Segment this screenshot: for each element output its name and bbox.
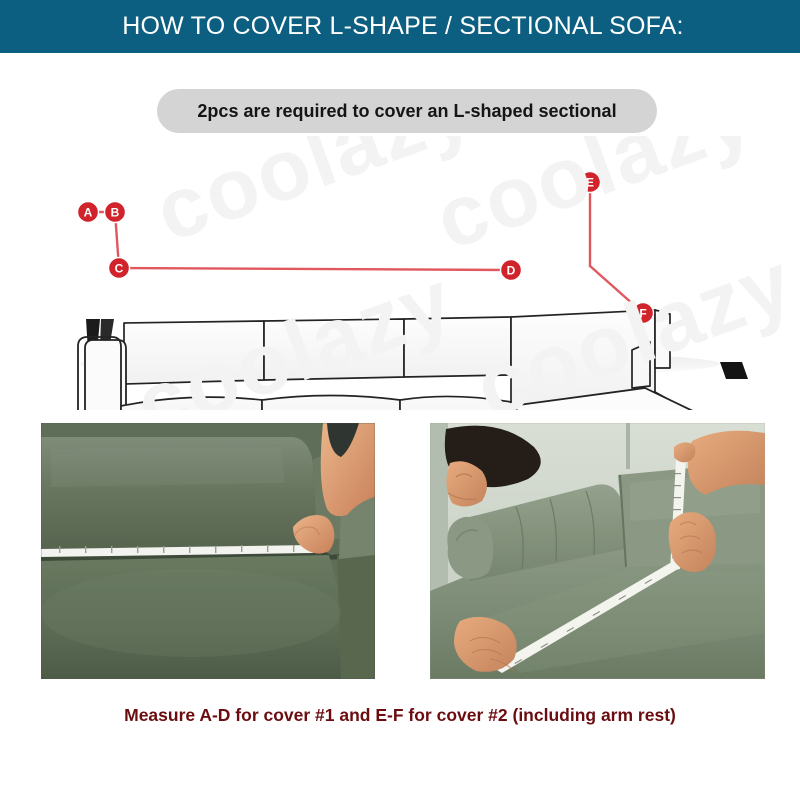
caption-text: Measure A-D for cover #1 and E-F for cov… — [0, 705, 800, 726]
subtitle-pill: 2pcs are required to cover an L-shaped s… — [157, 89, 657, 133]
header-banner: HOW TO COVER L-SHAPE / SECTIONAL SOFA: — [0, 0, 800, 53]
chaise-right-arm — [655, 310, 670, 368]
sofa-diagram: coolazy coolazy coolazy coolazy — [0, 136, 800, 410]
seat-cushions — [121, 396, 511, 411]
sofa-line-drawing: A B C D E — [0, 136, 800, 410]
subtitle-text: 2pcs are required to cover an L-shaped s… — [197, 101, 616, 122]
marker-label: C — [115, 262, 124, 276]
marker-b[interactable]: B — [105, 202, 126, 223]
left-armrest — [85, 340, 126, 410]
marker-label: F — [639, 307, 646, 321]
segment-c-d — [119, 268, 511, 270]
page-title: HOW TO COVER L-SHAPE / SECTIONAL SOFA: — [116, 14, 683, 39]
marker-label: A — [84, 206, 93, 220]
marker-d[interactable]: D — [501, 260, 522, 281]
marker-label: D — [507, 264, 516, 278]
marker-label: B — [111, 206, 120, 220]
marker-f[interactable]: F — [633, 303, 654, 324]
marker-e[interactable]: E — [580, 172, 601, 193]
photo-measuring-full-length — [430, 423, 765, 679]
backrest-cushions — [124, 317, 511, 384]
instruction-graphic: HOW TO COVER L-SHAPE / SECTIONAL SOFA: 2… — [0, 0, 800, 800]
measurement-lines — [88, 182, 643, 313]
photo-measuring-seat-crease — [41, 423, 375, 679]
marker-label: E — [586, 176, 594, 190]
marker-a[interactable]: A — [78, 202, 99, 223]
marker-c[interactable]: C — [109, 258, 130, 279]
measurement-markers: A B C D E — [78, 172, 654, 324]
chaise-arm-inner — [632, 342, 650, 388]
